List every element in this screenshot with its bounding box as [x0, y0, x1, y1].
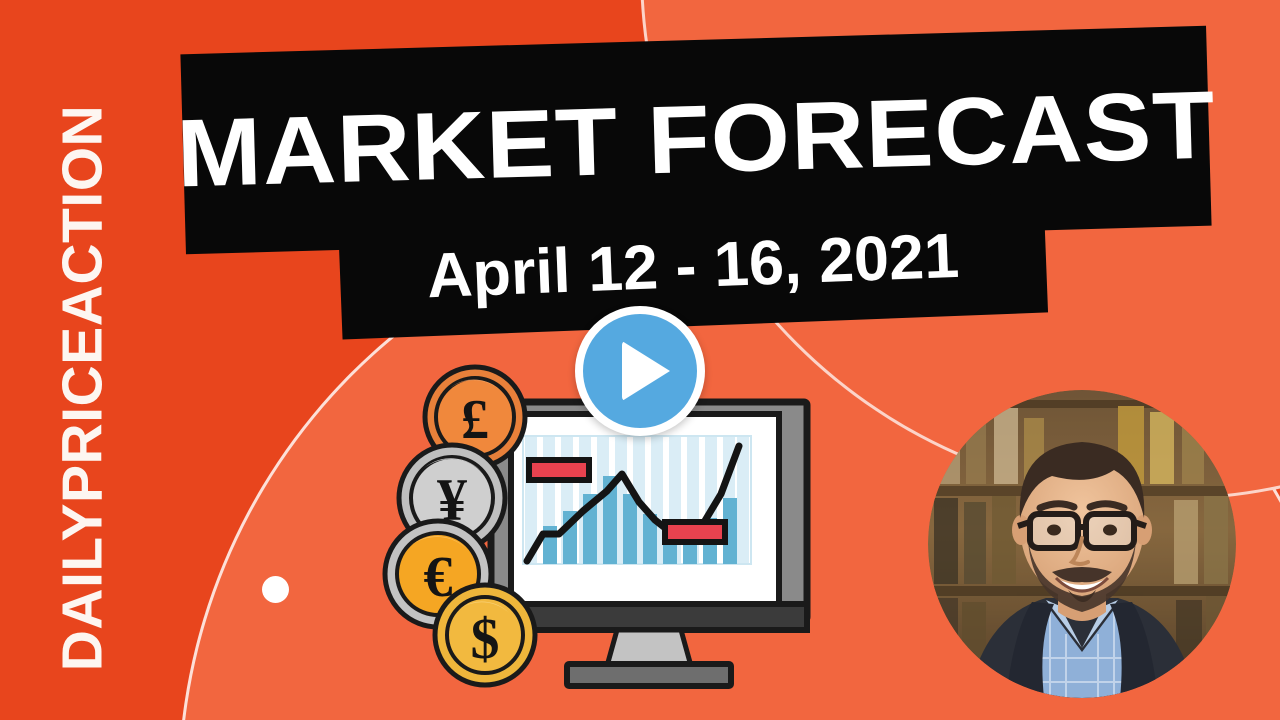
coin-dollar: $	[430, 580, 540, 695]
thumbnail-canvas: DAILYPRICEACTION MARKET FORECAST April 1…	[0, 0, 1280, 720]
date-range-label: April 12 - 16, 2021	[426, 220, 961, 312]
avatar	[928, 390, 1236, 698]
play-triangle-icon	[622, 341, 670, 401]
background-accent-dot	[262, 576, 289, 603]
page-title: MARKET FORECAST	[175, 71, 1217, 210]
play-button[interactable]	[575, 306, 705, 436]
svg-text:$: $	[471, 606, 500, 671]
brand-watermark: DAILYPRICEACTION	[50, 51, 116, 720]
